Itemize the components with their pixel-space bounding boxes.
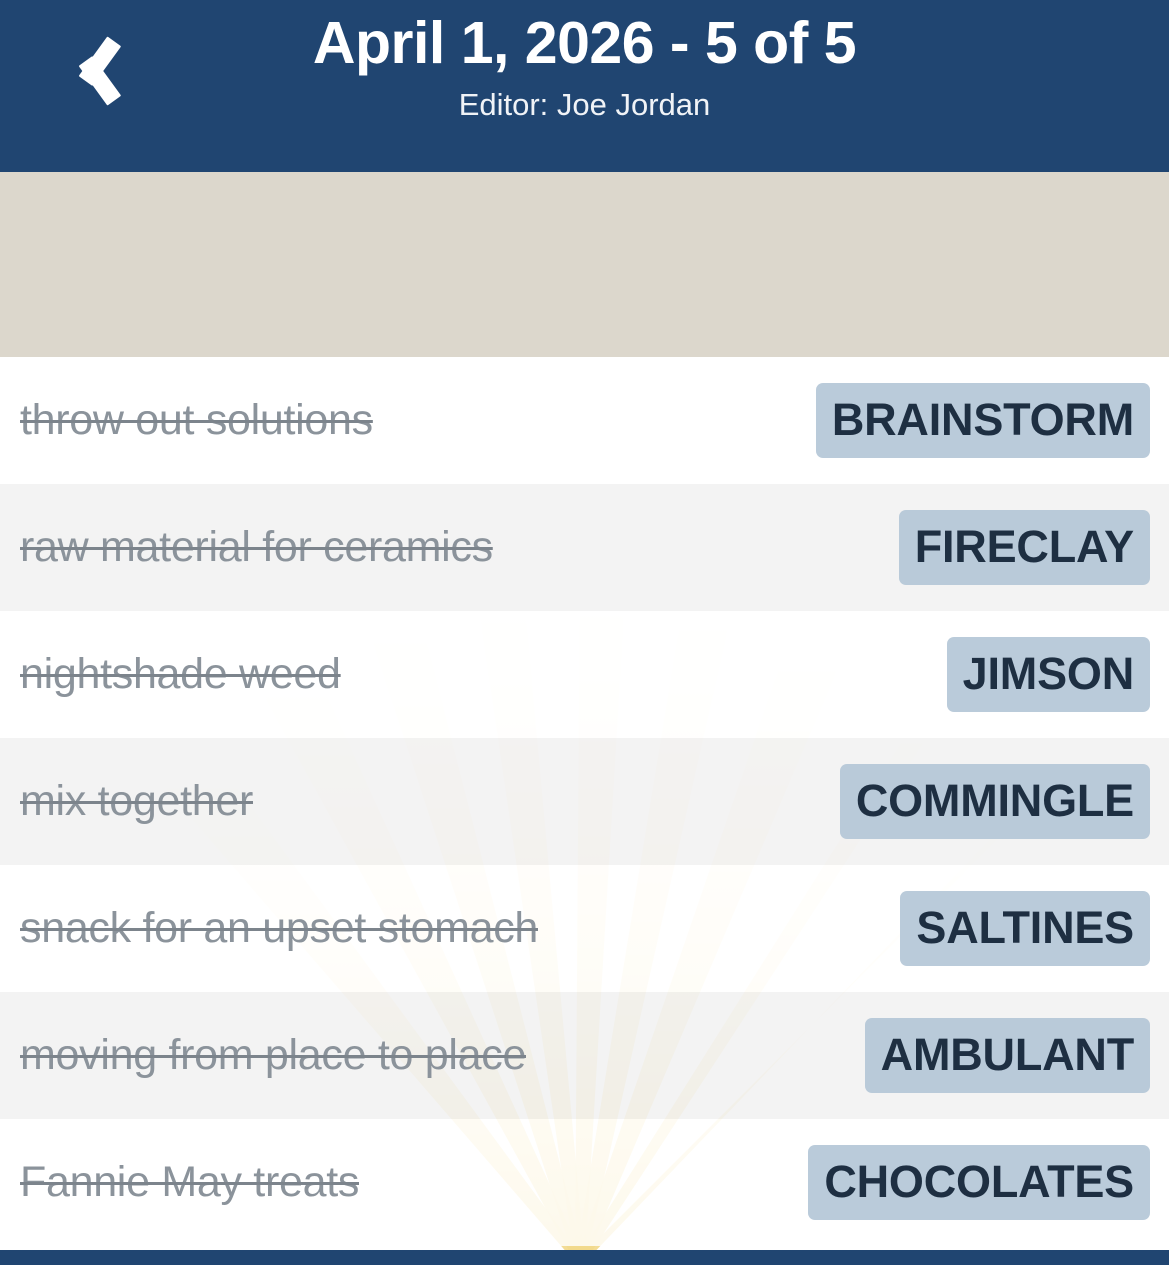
answer-badge[interactable]: COMMINGLE [840, 764, 1150, 839]
clue-row[interactable]: mix together COMMINGLE [0, 738, 1169, 865]
bottom-bar [0, 1250, 1169, 1265]
clue-text: raw material for ceramics [20, 523, 493, 572]
header-titles: April 1, 2026 - 5 of 5 Editor: Joe Jorda… [313, 6, 856, 123]
answer-badge[interactable]: CHOCOLATES [808, 1145, 1150, 1220]
clue-row[interactable]: raw material for ceramics FIRECLAY [0, 484, 1169, 611]
clue-text: mix together [20, 777, 253, 826]
clue-row[interactable]: snack for an upset stomach SALTINES [0, 865, 1169, 992]
answer-badge[interactable]: BRAINSTORM [816, 383, 1150, 458]
chevron-left-icon [63, 32, 115, 110]
ad-banner[interactable] [0, 172, 1169, 357]
editor-subtitle: Editor: Joe Jordan [459, 87, 711, 123]
clue-text: moving from place to place [20, 1031, 526, 1080]
answer-badge[interactable]: JIMSON [947, 637, 1150, 712]
page-title: April 1, 2026 - 5 of 5 [313, 10, 856, 78]
answer-badge[interactable]: FIRECLAY [899, 510, 1150, 585]
clue-row[interactable]: moving from place to place AMBULANT [0, 992, 1169, 1119]
clue-text: throw out solutions [20, 396, 373, 445]
back-button[interactable] [34, 16, 144, 126]
app-header: April 1, 2026 - 5 of 5 Editor: Joe Jorda… [0, 0, 1169, 172]
clue-text: nightshade weed [20, 650, 341, 699]
clue-row[interactable]: Fannie May treats CHOCOLATES [0, 1119, 1169, 1246]
answer-badge[interactable]: SALTINES [900, 891, 1150, 966]
clue-row[interactable]: nightshade weed JIMSON [0, 611, 1169, 738]
clue-text: Fannie May treats [20, 1158, 359, 1207]
clue-row[interactable]: throw out solutions BRAINSTORM [0, 357, 1169, 484]
answer-badge[interactable]: AMBULANT [865, 1018, 1150, 1093]
puzzle-answers-screen: April 1, 2026 - 5 of 5 Editor: Joe Jorda… [0, 0, 1169, 1265]
clue-rows: throw out solutions BRAINSTORM raw mater… [0, 357, 1169, 1246]
clue-text: snack for an upset stomach [20, 904, 538, 953]
clue-list-area: throw out solutions BRAINSTORM raw mater… [0, 357, 1169, 1265]
